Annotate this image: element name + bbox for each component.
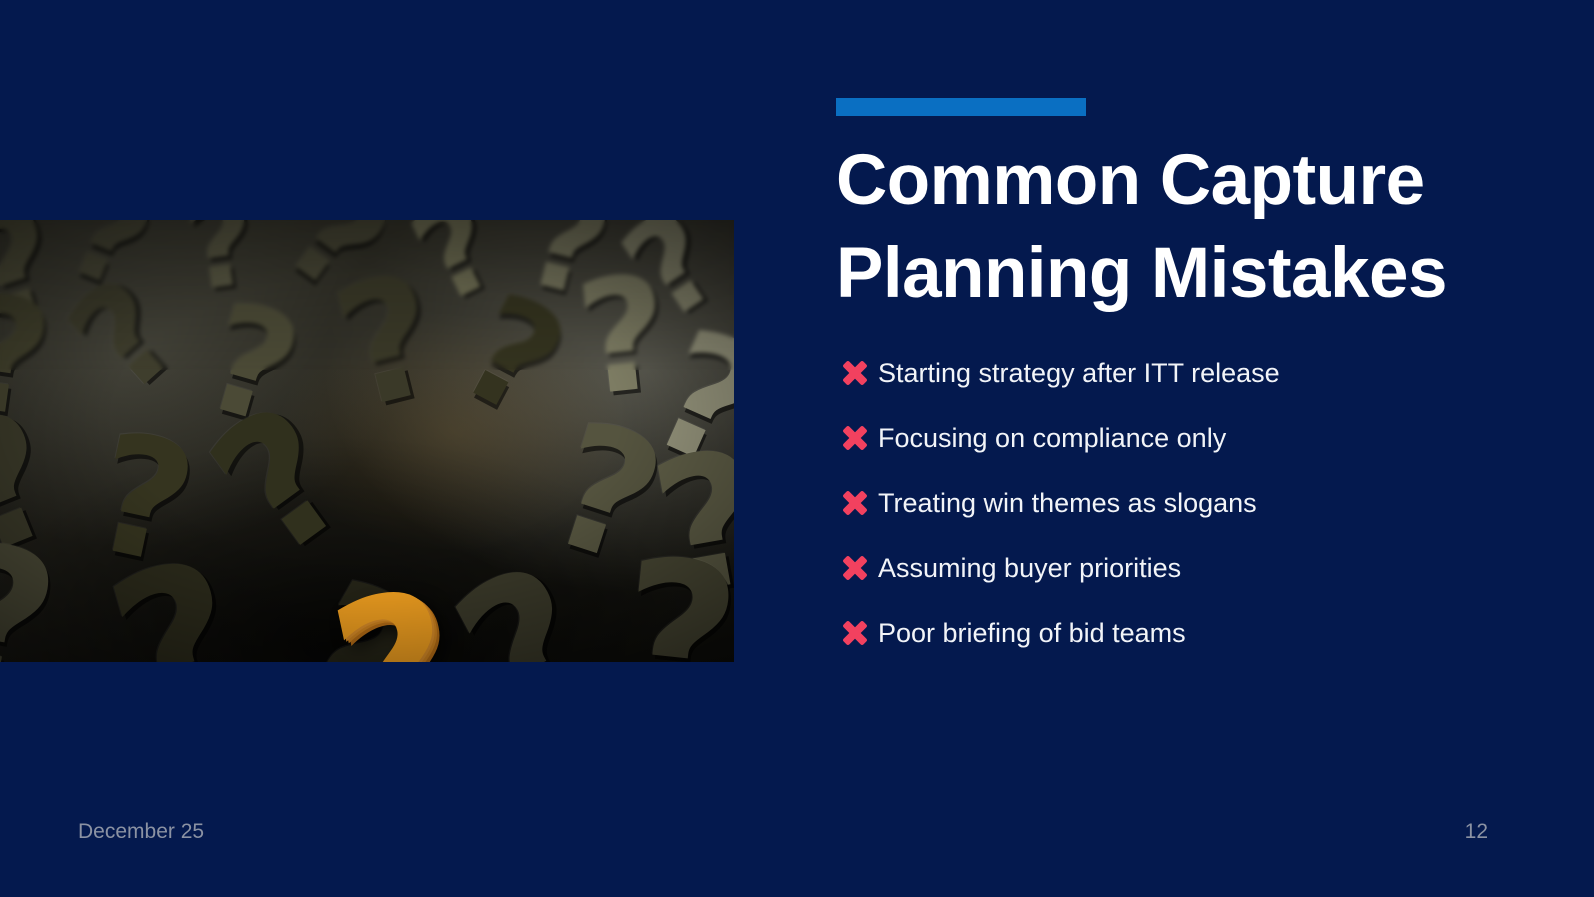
list-item-label: Treating win themes as slogans xyxy=(878,486,1257,520)
list-item: Assuming buyer priorities xyxy=(838,547,1498,588)
title-accent-bar xyxy=(836,98,1086,116)
cross-mark-icon xyxy=(838,551,872,585)
cross-mark-icon xyxy=(838,616,872,650)
footer-page-number: 12 xyxy=(1465,818,1488,846)
cross-mark-icon xyxy=(838,356,872,390)
cross-mark-icon xyxy=(838,486,872,520)
list-item-label: Assuming buyer priorities xyxy=(878,551,1181,585)
question-mark-glyph: ? xyxy=(610,530,734,662)
list-item: Starting strategy after ITT release xyxy=(838,352,1498,393)
list-item: Treating win themes as slogans xyxy=(838,482,1498,523)
page-title: Common Capture Planning Mistakes xyxy=(836,134,1476,320)
list-item: Focusing on compliance only xyxy=(838,417,1498,458)
list-item-label: Starting strategy after ITT release xyxy=(878,356,1280,390)
list-item-label: Poor briefing of bid teams xyxy=(878,616,1186,650)
list-item: Poor briefing of bid teams xyxy=(838,612,1498,653)
footer-date: December 25 xyxy=(78,818,204,846)
slide: ? ? ? ? ? ? ? ? ? ? ? ? ? ? ? ? ? ? ? ? … xyxy=(0,0,1594,897)
cross-mark-icon xyxy=(838,421,872,455)
mistakes-list: Starting strategy after ITT release Focu… xyxy=(838,352,1498,677)
slide-image: ? ? ? ? ? ? ? ? ? ? ? ? ? ? ? ? ? ? ? ? … xyxy=(0,220,734,662)
list-item-label: Focusing on compliance only xyxy=(878,421,1226,455)
